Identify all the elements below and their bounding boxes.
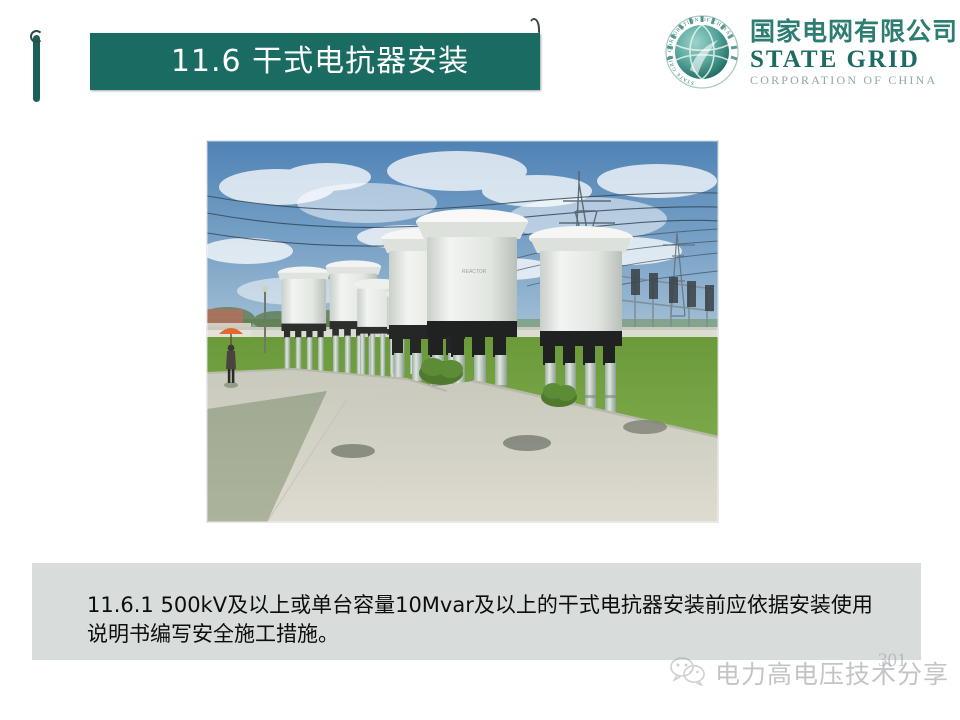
caption-box: 11.6.1 500kV及以上或单台容量10Mvar及以上的干式电抗器安装前应依…	[32, 563, 921, 660]
caption-text: 11.6.1 500kV及以上或单台容量10Mvar及以上的干式电抗器安装前应依…	[87, 591, 887, 649]
state-grid-emblem-icon: STATE GRID CORPORATION OF CHINA	[660, 12, 744, 92]
page-title: 11.6 干式电抗器安装	[90, 33, 540, 90]
wechat-icon	[668, 656, 708, 691]
svg-text:REACTOR: REACTOR	[462, 269, 487, 275]
slide-canvas: 11.6 干式电抗器安装	[0, 0, 960, 720]
title-banner: 11.6 干式电抗器安装	[90, 33, 540, 90]
logo-english-subtitle: CORPORATION OF CHINA	[750, 74, 958, 86]
page-number: 301	[878, 650, 907, 672]
substation-photo-illustration: REACTOR	[207, 141, 718, 522]
logo-english-name: STATE GRID	[750, 47, 958, 72]
watermark-text: 电力高电压技术分享	[715, 655, 949, 691]
state-grid-wordmark: 国家电网有限公司 STATE GRID CORPORATION OF CHINA	[750, 19, 958, 86]
wechat-watermark: 电力高电压技术分享	[668, 655, 949, 691]
title-hook-curl-icon	[528, 18, 540, 34]
state-grid-logo: STATE GRID CORPORATION OF CHINA 国家电网有限公司…	[660, 12, 950, 92]
logo-chinese-name: 国家电网有限公司	[750, 19, 958, 44]
title-ribbon-bar	[33, 35, 40, 102]
title-ribbon-knob-icon	[30, 30, 43, 43]
substation-photo: REACTOR	[207, 141, 718, 522]
